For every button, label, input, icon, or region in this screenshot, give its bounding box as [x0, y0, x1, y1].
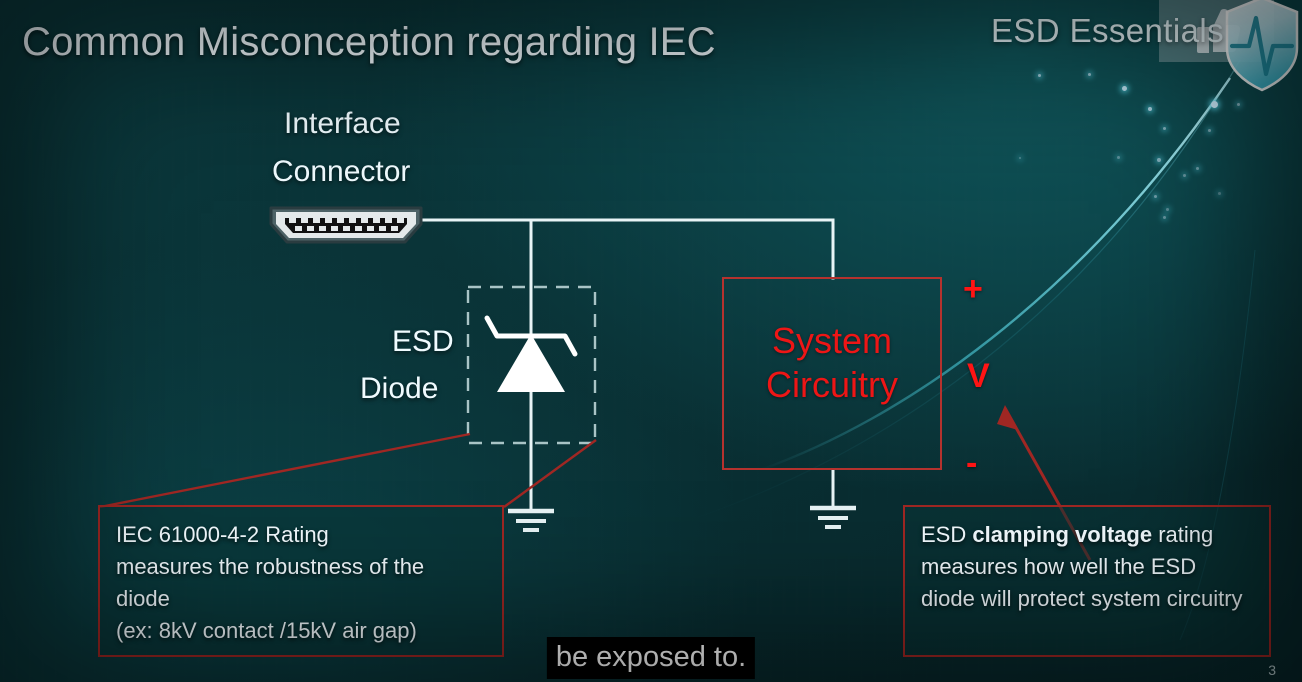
- polarity-plus-label: +: [963, 270, 983, 309]
- slide-root: Common Misconception regarding IEC ESD E…: [0, 0, 1302, 682]
- left-callout-line2: measures the robustness of the: [116, 551, 488, 583]
- right-callout-prefix: ESD: [921, 522, 972, 547]
- polarity-minus-label: -: [966, 444, 977, 483]
- left-callout-line1: IEC 61000-4-2 Rating: [116, 519, 488, 551]
- page-number: 3: [1268, 662, 1276, 678]
- left-callout-box: IEC 61000-4-2 Rating measures the robust…: [98, 505, 504, 657]
- diode-label: Diode: [360, 372, 438, 406]
- left-callout-leader: [100, 434, 596, 507]
- right-callout-bold: clamping voltage: [972, 522, 1152, 547]
- connector-label: Connector: [272, 155, 410, 189]
- ground-icon: [810, 508, 856, 527]
- left-callout-line4: (ex: 8kV contact /15kV air gap): [116, 615, 488, 647]
- system-circuitry-line2: Circuitry: [722, 363, 942, 407]
- interface-label: Interface: [284, 107, 401, 141]
- video-caption: be exposed to.: [547, 637, 755, 679]
- right-callout-box: ESD clamping voltage rating measures how…: [903, 505, 1271, 657]
- hdmi-connector-icon: [266, 202, 426, 250]
- esd-label: ESD: [392, 325, 454, 359]
- left-callout-line3: diode: [116, 583, 488, 615]
- ground-icon: [508, 511, 554, 530]
- polarity-voltage-label: V: [967, 357, 990, 396]
- system-circuitry-label: System Circuitry: [722, 319, 942, 407]
- system-circuitry-line1: System: [722, 319, 942, 363]
